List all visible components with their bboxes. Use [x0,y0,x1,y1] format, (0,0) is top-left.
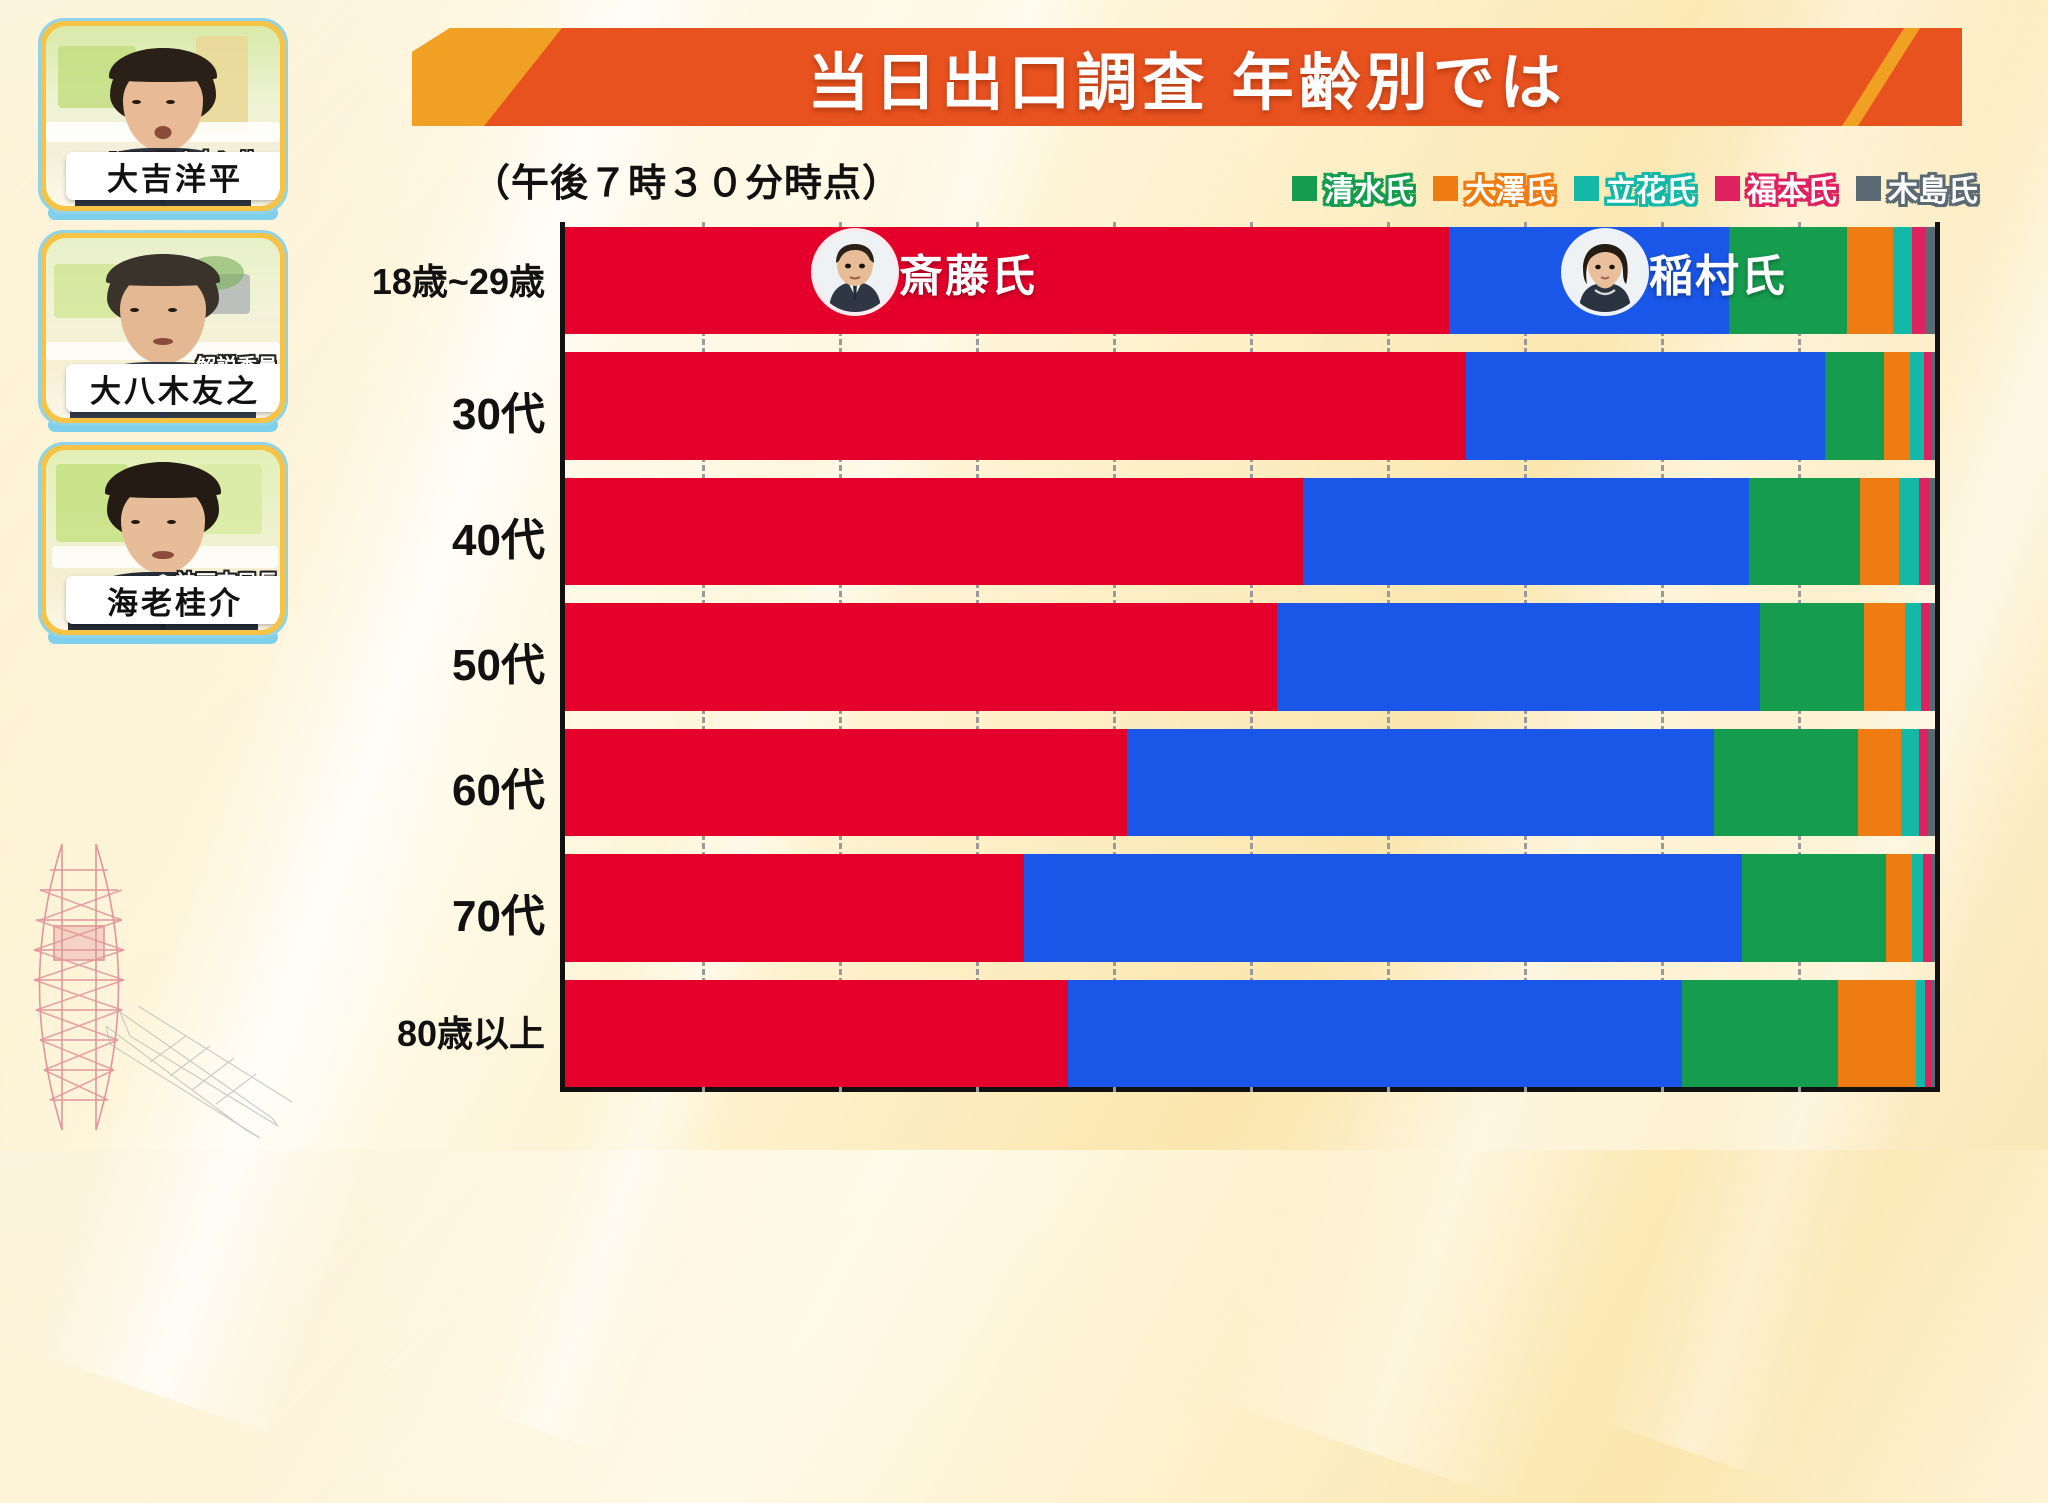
bar-segment-木島氏 [1931,980,1935,1087]
legend-label-tachibana: 立花氏 [1606,166,1696,210]
bar-segment-木島氏 [1928,729,1935,836]
bar-segment-稲村氏 [1277,603,1759,710]
legend-swatch-kijima [1856,176,1881,201]
bar-segment-清水氏 [1760,603,1864,710]
bar-row [565,603,1935,710]
bar-segment-稲村氏 [1068,980,1682,1087]
legend-item-osawa[interactable]: 大澤氏 [1433,166,1555,210]
panel-name-plate: 海老桂介 [66,576,280,624]
chart-axis-right [1935,222,1940,1092]
bar-segment-清水氏 [1749,478,1860,585]
category-label-18歳~29歳: 18歳~29歳 [372,253,545,305]
category-label-30代: 30代 [452,378,545,442]
bar-segment-木島氏 [1929,478,1934,585]
bar-segment-稲村氏 [1303,478,1748,585]
legend-item-fukumoto[interactable]: 福本氏 [1715,166,1837,210]
bar-segment-立花氏 [1912,854,1923,961]
bar-row [565,352,1935,459]
bar-segment-福本氏 [1919,478,1930,585]
bar-segment-清水氏 [1825,352,1884,459]
participant-panel-strip: MBSアナウンサー 大吉洋平 解説委員 [38,18,288,654]
bar-segment-立花氏 [1916,980,1926,1087]
legend-label-fukumoto: 福本氏 [1747,166,1837,210]
bar-segment-稲村氏 [1024,854,1742,961]
bar-segment-斎藤氏 [565,980,1068,1087]
legend-item-tachibana[interactable]: 立花氏 [1574,166,1696,210]
subtitle-timestamp: （午後７時３０分時点） [472,152,901,207]
bar-segment-福本氏 [1912,227,1926,334]
panel-name-label: 大八木友之 [90,366,260,411]
saito-avatar [815,232,895,312]
bar-segment-斎藤氏 [565,854,1024,961]
legend-swatch-shimizu [1292,176,1317,201]
chart-legend: 清水氏 大澤氏 立花氏 福本氏 木島氏 [1292,166,1978,210]
page-title: 当日出口調査 年齢別では [412,32,1962,122]
bar-segment-立花氏 [1905,603,1921,710]
panel-name-label: 海老桂介 [107,578,243,623]
bar-segment-木島氏 [1925,227,1935,334]
participant-panel-commentator: 解説委員 大八木友之 [38,230,288,426]
title-banner: 当日出口調査 年齢別では [412,28,1962,126]
legend-label-shimizu: 清水氏 [1324,166,1414,210]
bar-row [565,478,1935,585]
panel-name-plate: 大八木友之 [66,364,280,412]
bar-segment-木島氏 [1929,603,1934,710]
bar-segment-清水氏 [1714,729,1858,836]
legend-swatch-fukumoto [1715,176,1740,201]
category-label-60代: 60代 [452,754,545,818]
bar-segment-福本氏 [1921,603,1929,710]
bar-segment-稲村氏 [1466,352,1825,459]
bar-segment-立花氏 [1910,352,1924,459]
bar-segment-大澤氏 [1860,478,1900,585]
bar-segment-木島氏 [1931,352,1935,459]
bar-segment-斎藤氏 [565,352,1466,459]
category-label-50代: 50代 [452,629,545,693]
bar-segment-斎藤氏 [565,603,1277,710]
callout-saito: 斎藤氏 [815,232,1037,312]
exit-poll-chart: 18歳~29歳30代40代50代60代70代80歳以上 斎藤氏 [560,222,1940,1092]
legend-item-shimizu[interactable]: 清水氏 [1292,166,1414,210]
bar-segment-大澤氏 [1858,729,1900,836]
port-tower-graphic [10,830,310,1150]
bar-segment-稲村氏 [1127,729,1715,836]
callout-inamura: 稲村氏 [1565,232,1787,312]
category-label-40代: 40代 [452,504,545,568]
category-label-80歳以上: 80歳以上 [397,1005,545,1057]
bar-segment-福本氏 [1924,352,1931,459]
bar-segment-福本氏 [1923,854,1931,961]
category-label-70代: 70代 [452,880,545,944]
bar-segment-大澤氏 [1886,854,1912,961]
panel-name-label: 大吉洋平 [107,154,243,199]
bar-segment-斎藤氏 [565,729,1127,836]
bar-segment-大澤氏 [1838,980,1916,1087]
legend-label-osawa: 大澤氏 [1465,166,1555,210]
inamura-avatar [1565,232,1645,312]
callout-name-saito: 斎藤氏 [899,240,1037,304]
bar-segment-清水氏 [1682,980,1838,1087]
bar-segment-大澤氏 [1884,352,1910,459]
participant-panel-bureau-chief: 神戸支局長 海老桂介 [38,442,288,638]
panel-name-plate: 大吉洋平 [66,152,280,200]
bar-row [565,729,1935,836]
bar-segment-清水氏 [1742,854,1886,961]
participant-panel-announcer: MBSアナウンサー 大吉洋平 [38,18,288,214]
bar-row [565,980,1935,1087]
legend-swatch-tachibana [1574,176,1599,201]
bar-segment-斎藤氏 [565,478,1303,585]
callout-name-inamura: 稲村氏 [1649,240,1787,304]
bar-segment-大澤氏 [1847,227,1892,334]
legend-item-kijima[interactable]: 木島氏 [1856,166,1978,210]
bar-segment-立花氏 [1893,227,1912,334]
bar-segment-立花氏 [1899,478,1918,585]
legend-swatch-osawa [1433,176,1458,201]
legend-label-kijima: 木島氏 [1888,166,1978,210]
bar-segment-木島氏 [1931,854,1935,961]
bar-row [565,854,1935,961]
bar-segment-大澤氏 [1864,603,1905,710]
bar-segment-立花氏 [1901,729,1919,836]
bar-segment-福本氏 [1919,729,1929,836]
